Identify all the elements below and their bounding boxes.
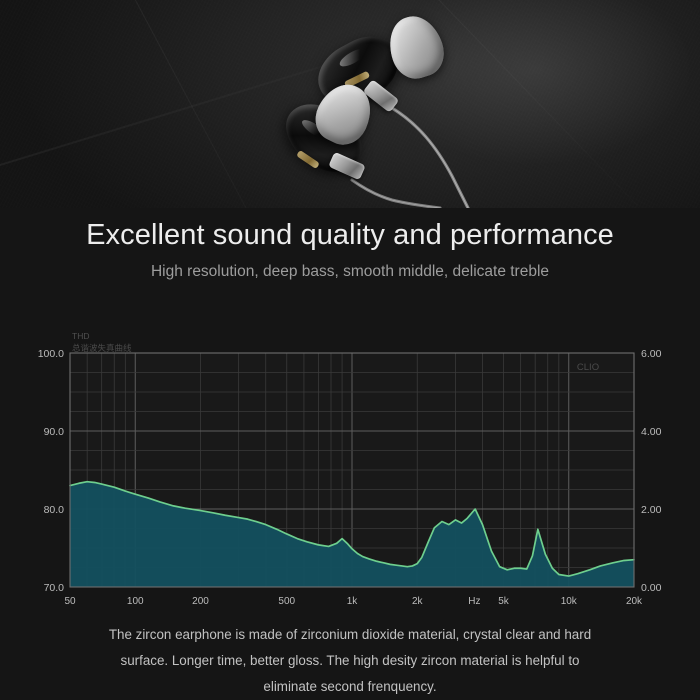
earphone-hero-photo: [0, 0, 700, 208]
tick-label: 10k: [561, 596, 578, 607]
tick-label: 80.0: [44, 504, 65, 516]
page-headline: Excellent sound quality and performance: [0, 219, 700, 252]
page-subheadline: High resolution, deep bass, smooth middl…: [0, 263, 700, 281]
secondary-y-axis-tick-labels: 6.004.002.000.00: [641, 348, 662, 594]
tick-label: 0.00: [641, 582, 662, 594]
tick-label: 4.00: [641, 426, 662, 438]
tick-label: 2k: [412, 596, 424, 607]
chart-subtitle: 总谐波失真曲线: [72, 343, 132, 354]
tick-label: 6.00: [641, 348, 662, 360]
tick-label: 50: [64, 596, 76, 607]
y-axis-tick-labels: 100.090.080.070.0: [38, 348, 64, 594]
tick-label: 100.0: [38, 348, 64, 360]
clio-watermark: CLIO: [577, 362, 599, 373]
chart-title: THD: [72, 331, 89, 341]
tick-label: 1k: [347, 596, 359, 607]
tick-label: 5k: [498, 596, 510, 607]
thd-chart-svg: 501002005001k2k5k10k20kHz 100.090.080.07…: [0, 318, 700, 608]
x-axis-tick-labels: 501002005001k2k5k10k20kHz: [64, 596, 643, 607]
tick-label: 20k: [626, 596, 643, 607]
tick-label: 200: [192, 596, 209, 607]
tick-label: 500: [278, 596, 295, 607]
tick-label: 90.0: [44, 426, 65, 438]
thd-chart: 501002005001k2k5k10k20kHz 100.090.080.07…: [0, 318, 700, 608]
product-description: The zircon earphone is made of zirconium…: [95, 622, 605, 700]
tick-label: 100: [127, 596, 144, 607]
tick-label: Hz: [468, 596, 480, 607]
tick-label: 70.0: [44, 582, 65, 594]
tick-label: 2.00: [641, 504, 662, 516]
product-feature-page: Excellent sound quality and performance …: [0, 0, 700, 700]
